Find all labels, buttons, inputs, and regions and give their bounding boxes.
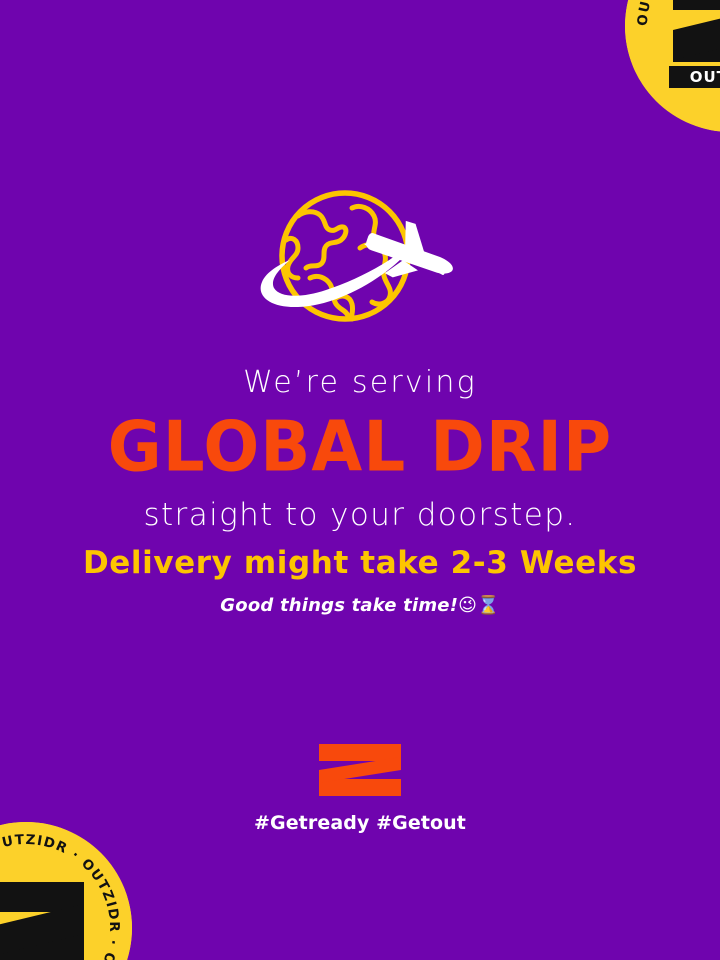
headline-main: GLOBAL DRIP xyxy=(0,412,720,481)
brand-z-logo xyxy=(319,744,401,796)
svg-text:OUTZIDR: OUTZIDR xyxy=(690,68,720,86)
airplane-icon xyxy=(357,207,464,301)
badge-inner-label: OUTZIDR xyxy=(669,66,720,88)
delivery-block: Delivery might take 2-3 Weeks Good thing… xyxy=(0,548,720,615)
brand-badge-top-right: OUTZIDR · OUTZIDR · OUTZIDR · OUTZIDR · … xyxy=(625,0,720,132)
delivery-note: Good things take time!😉⌛ xyxy=(0,597,720,615)
footer-hashtags: #Getready #Getout xyxy=(0,814,720,833)
headline-subtitle: straight to your doorstep. xyxy=(0,500,720,531)
delivery-headline: Delivery might take 2-3 Weeks xyxy=(0,548,720,579)
brand-badge-bottom-left: OUTZIDR · OUTZIDR · OUTZIDR · OUTZIDR · … xyxy=(0,822,132,960)
promo-poster: OUTZIDR · OUTZIDR · OUTZIDR · OUTZIDR · … xyxy=(0,0,720,960)
delivery-note-text: Good things take time! xyxy=(220,595,458,616)
hourglass-emoji: ⌛ xyxy=(477,595,500,616)
footer-block: #Getready #Getout xyxy=(0,744,720,833)
globe-airplane-icon xyxy=(240,178,482,344)
headline-eyebrow: We’re serving xyxy=(0,368,720,398)
headline-block: We’re serving GLOBAL DRIP straight to yo… xyxy=(0,368,720,531)
wink-face-emoji: 😉 xyxy=(458,595,477,616)
badge-z-mark xyxy=(673,0,720,62)
